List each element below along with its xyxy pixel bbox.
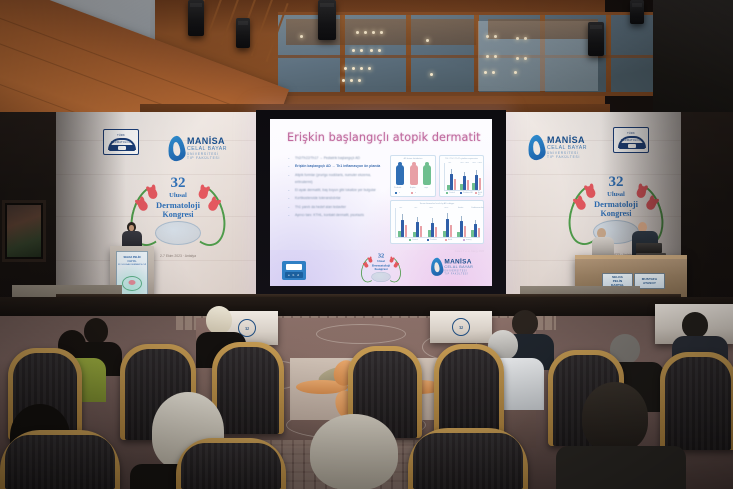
slide-footer: 32 Ulusal Dermatoloji Kongresi M — [270, 250, 492, 286]
slide-bullet: El ayak dermatiti, baş boyun gibi lokali… — [288, 188, 380, 193]
audience-chair — [408, 428, 528, 489]
university-flame-icon — [526, 134, 546, 161]
audience-chair — [176, 438, 286, 489]
congress-emblem-footer: 32 Ulusal Dermatoloji Kongresi — [362, 251, 401, 286]
body-silhouette-icon — [396, 165, 404, 185]
congress-line3: Kongresi — [163, 210, 194, 219]
congress-line1: Ulusal — [169, 192, 187, 199]
balcony-glass-band — [278, 12, 698, 96]
audience-chair — [660, 352, 733, 450]
slide-title: Erişkin başlangıçlı atopik dermatit — [287, 131, 481, 144]
conference-hall-photo: TÜRK DERMATOLOJİ DERNEĞİ MANİSA CELAL BA… — [0, 0, 733, 489]
laptop — [636, 243, 662, 253]
congress-date: 2-7 Ekim 2023 · Antalya — [160, 254, 196, 258]
university-flame-icon — [166, 135, 186, 162]
congress-emblem: 32 Ulusal Dermatoloji Kongresi 2-7 Ekim … — [132, 171, 224, 257]
ebd-logo — [282, 261, 306, 280]
slide-bullet-list: Th2/Th22/Th17 → Pediatrik başlangıçlı AD… — [288, 156, 380, 222]
figure-body-diagram: AD lesion distribution Pediatrik Erişkin… — [390, 155, 436, 197]
audience-chair — [434, 344, 504, 436]
slide-bullet: Th2/Th22/Th17 → Pediatrik başlangıçlı AD — [288, 156, 380, 161]
globe-icon — [155, 221, 201, 245]
audience-chair — [0, 430, 120, 489]
right-upper-wall — [653, 0, 733, 128]
hanging-speaker — [630, 0, 644, 24]
slide-bullet: Kortikosteroide toleranslıdırlar — [288, 196, 380, 201]
body-silhouette-icon — [423, 165, 431, 185]
figure-biomarkers-top: Th1 / Th2 / Th17 cytokine expression Th1… — [439, 155, 484, 197]
congress-line2: Dermatoloji — [156, 200, 200, 210]
slide-bullet-highlighted: Erişkin başlangıçlı AD → Th1 inflamasyon… — [288, 164, 380, 169]
presentation-slide: Erişkin başlangıçlı atopik dermatit Th2/… — [270, 119, 492, 286]
hanging-speaker — [318, 0, 336, 40]
hanging-speaker — [236, 18, 250, 48]
projection-screen: Erişkin başlangıçlı atopik dermatit Th2/… — [256, 110, 506, 300]
university-logo: MANİSA CELAL BAYAR ÜNİVERSİTESİ TIP FAKÜ… — [528, 133, 602, 163]
congress-number: 32 — [171, 175, 186, 192]
framed-painting — [2, 200, 46, 262]
university-logo-line1: MANİSA — [547, 135, 587, 145]
body-silhouette-icon — [410, 165, 418, 185]
university-logo-line4: TIP FAKÜLTESİ — [187, 156, 227, 160]
university-logo: MANİSA CELAL BAYAR ÜNİVERSİTESİ TIP FAKÜ… — [168, 134, 242, 164]
university-logo-line4: TIP FAKÜLTESİ — [547, 155, 587, 159]
university-logo-footer: MANİSA CELAL BAYAR ÜNİVERSİTESİ TIP FAKÜ… — [431, 256, 484, 278]
slide-bullet: Atipik formlar (prurigo nodülaris, numul… — [288, 173, 380, 185]
hanging-speaker — [588, 22, 604, 56]
slide-bullet: Ayırıcı tanı: KTHL, kontakt dermatit, ps… — [288, 213, 380, 218]
slide-bullet: Th1 yanıtı da hedef alan tedaviler — [288, 205, 380, 210]
hanging-speaker — [188, 0, 204, 36]
university-logo-line1: MANİSA — [187, 136, 227, 146]
barrier-panel-center: 32 — [430, 311, 492, 343]
figure-biomarkers-bottom: Serum biomarker levels by AD subtype Th1… — [390, 200, 484, 244]
